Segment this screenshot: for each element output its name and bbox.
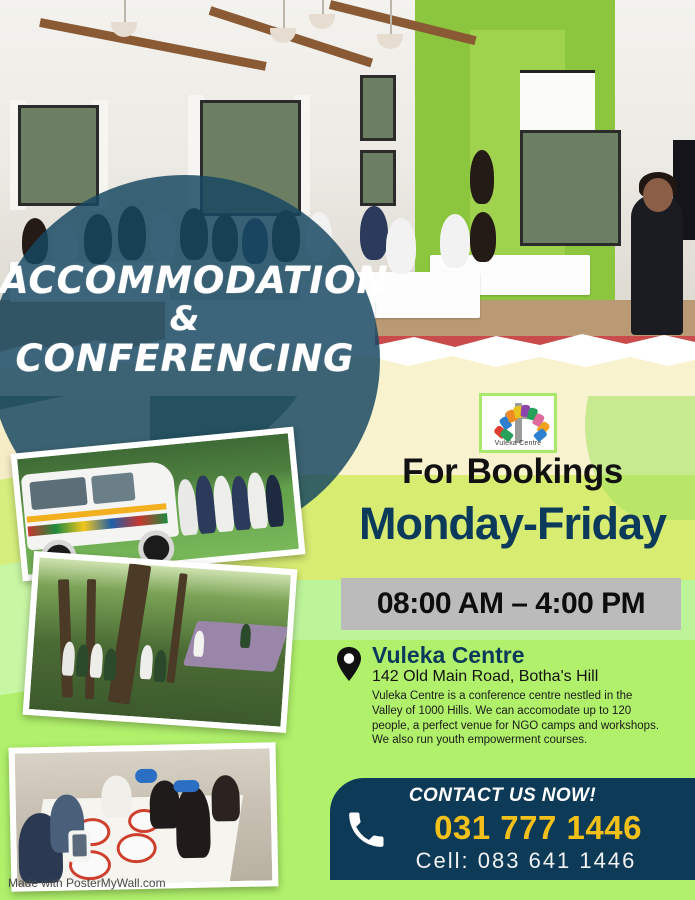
window: [18, 105, 99, 206]
attendee: [440, 214, 470, 268]
for-bookings-heading: For Bookings: [330, 452, 695, 492]
window: [360, 75, 396, 141]
attendee: [386, 218, 416, 274]
visitor: [153, 650, 167, 683]
venue-name: Vuleka Centre: [372, 643, 688, 667]
poster-credit: Made with PosterMyWall.com: [8, 876, 166, 890]
visitor: [240, 624, 252, 649]
tree-trunk: [108, 563, 152, 705]
location-pin-icon: [336, 647, 362, 681]
tree-trunk: [166, 573, 187, 683]
beaded-headband: [135, 769, 157, 783]
venue-street: 142 Old Main Road, Botha's Hill: [372, 668, 688, 686]
guest: [211, 775, 240, 822]
smartphone-screen: [72, 834, 86, 856]
window: [360, 150, 396, 206]
logo-artwork: Vuleka Centre: [482, 396, 554, 450]
visitor: [139, 645, 153, 680]
vuleka-centre-logo: Vuleka Centre: [479, 393, 557, 453]
headline-line-3: CONFERENCING: [0, 340, 370, 378]
guest: [101, 775, 132, 818]
attendee: [470, 212, 496, 262]
poster-headline: ACCOMMODATION & CONFERENCING: [0, 262, 370, 378]
tree-trunk: [85, 579, 96, 699]
visitor: [103, 648, 117, 681]
contact-panel[interactable]: CONTACT US NOW! 031 777 1446 Cell: 083 6…: [330, 778, 695, 880]
contact-title: CONTACT US NOW!: [330, 785, 675, 807]
poster-canvas: ACCOMMODATION & CONFERENCING: [0, 0, 695, 900]
attendee: [360, 206, 388, 260]
cell-number[interactable]: Cell: 083 641 1446: [366, 848, 686, 874]
camera-operator: [470, 150, 494, 204]
tree-trunk: [58, 579, 73, 697]
grounds-photo: [29, 557, 291, 726]
headline-line-1: ACCOMMODATION: [0, 262, 370, 300]
guest: [175, 786, 211, 859]
presenter-body: [631, 195, 683, 335]
window: [520, 130, 621, 246]
lamp-cord: [283, 0, 285, 28]
minibus-window: [91, 472, 135, 504]
opening-hours-text: 08:00 AM – 4:00 PM: [377, 587, 645, 621]
visitor: [61, 641, 75, 676]
address-block: Vuleka Centre 142 Old Main Road, Botha's…: [336, 643, 688, 748]
visitor: [193, 630, 205, 657]
opening-hours-box: 08:00 AM – 4:00 PM: [341, 578, 681, 630]
minibus-window: [29, 477, 87, 510]
phone-icon: [346, 810, 386, 850]
headline-ampersand: &: [0, 302, 370, 337]
photo-card-dining: [9, 742, 279, 892]
venue-description: Vuleka Centre is a conference centre nes…: [372, 689, 662, 748]
photo-inner: [15, 748, 273, 885]
presenter-head: [643, 178, 673, 212]
beaded-headband: [173, 780, 199, 793]
dining-photo: [15, 748, 273, 885]
lamp-cord: [322, 0, 324, 14]
visitor: [89, 643, 103, 678]
logo-name-text: Vuleka Centre: [482, 440, 554, 447]
visitor: [75, 644, 89, 677]
photo-card-grounds: [23, 551, 298, 733]
lamp-cord: [124, 0, 126, 22]
telephone-number[interactable]: 031 777 1446: [388, 809, 688, 847]
booking-days: Monday-Friday: [330, 498, 695, 550]
lamp-cord: [390, 0, 392, 34]
photo-inner: [29, 557, 291, 726]
